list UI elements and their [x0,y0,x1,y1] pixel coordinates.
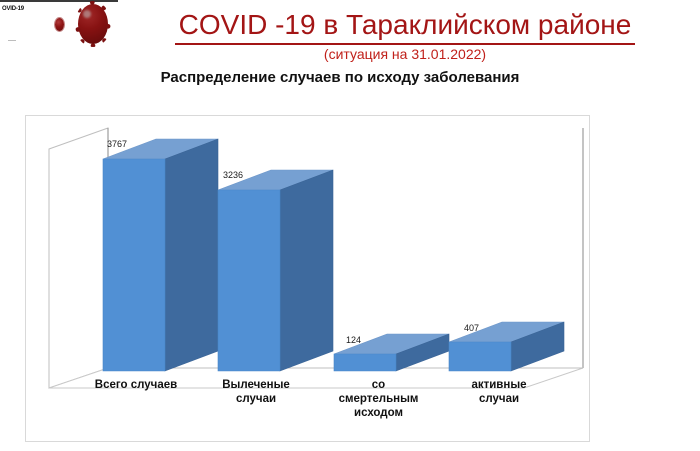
slide: OVID-19 COVID -19 в Тараклийском районе … [0,0,700,451]
page-title-text: COVID -19 в Тараклийском районе [175,8,636,45]
page-subtitle: (ситуация на 31.01.2022) [118,46,692,62]
virus-particle-icon [55,18,64,31]
category-label-line: активные [424,378,574,392]
category-label-line: случаи [424,392,574,406]
bar-3d [218,170,333,371]
virus-particle-icon [78,4,108,44]
bar-value-label: 124 [346,335,361,345]
category-label-line: исходом [306,406,451,420]
bar-value-label: 407 [464,323,479,333]
chart-container: 3767 3236 124 407 Всего случаев Вылечены… [25,115,590,442]
bar-3d [103,139,218,371]
chart-back-wall [49,128,108,388]
section-title: Распределение случаев по исходу заболева… [40,69,640,86]
category-label: активные случаи [424,378,574,406]
corner-image-caption: OVID-19 [2,6,24,12]
chart-plot-area: 3767 3236 124 407 Всего случаев Вылечены… [26,116,589,441]
corner-image-divider [0,0,118,2]
bar-value-label: 3767 [107,139,127,149]
corner-image-tick [8,40,16,41]
bar-value-label: 3236 [223,170,243,180]
page-title: COVID -19 в Тараклийском районе [118,8,692,45]
